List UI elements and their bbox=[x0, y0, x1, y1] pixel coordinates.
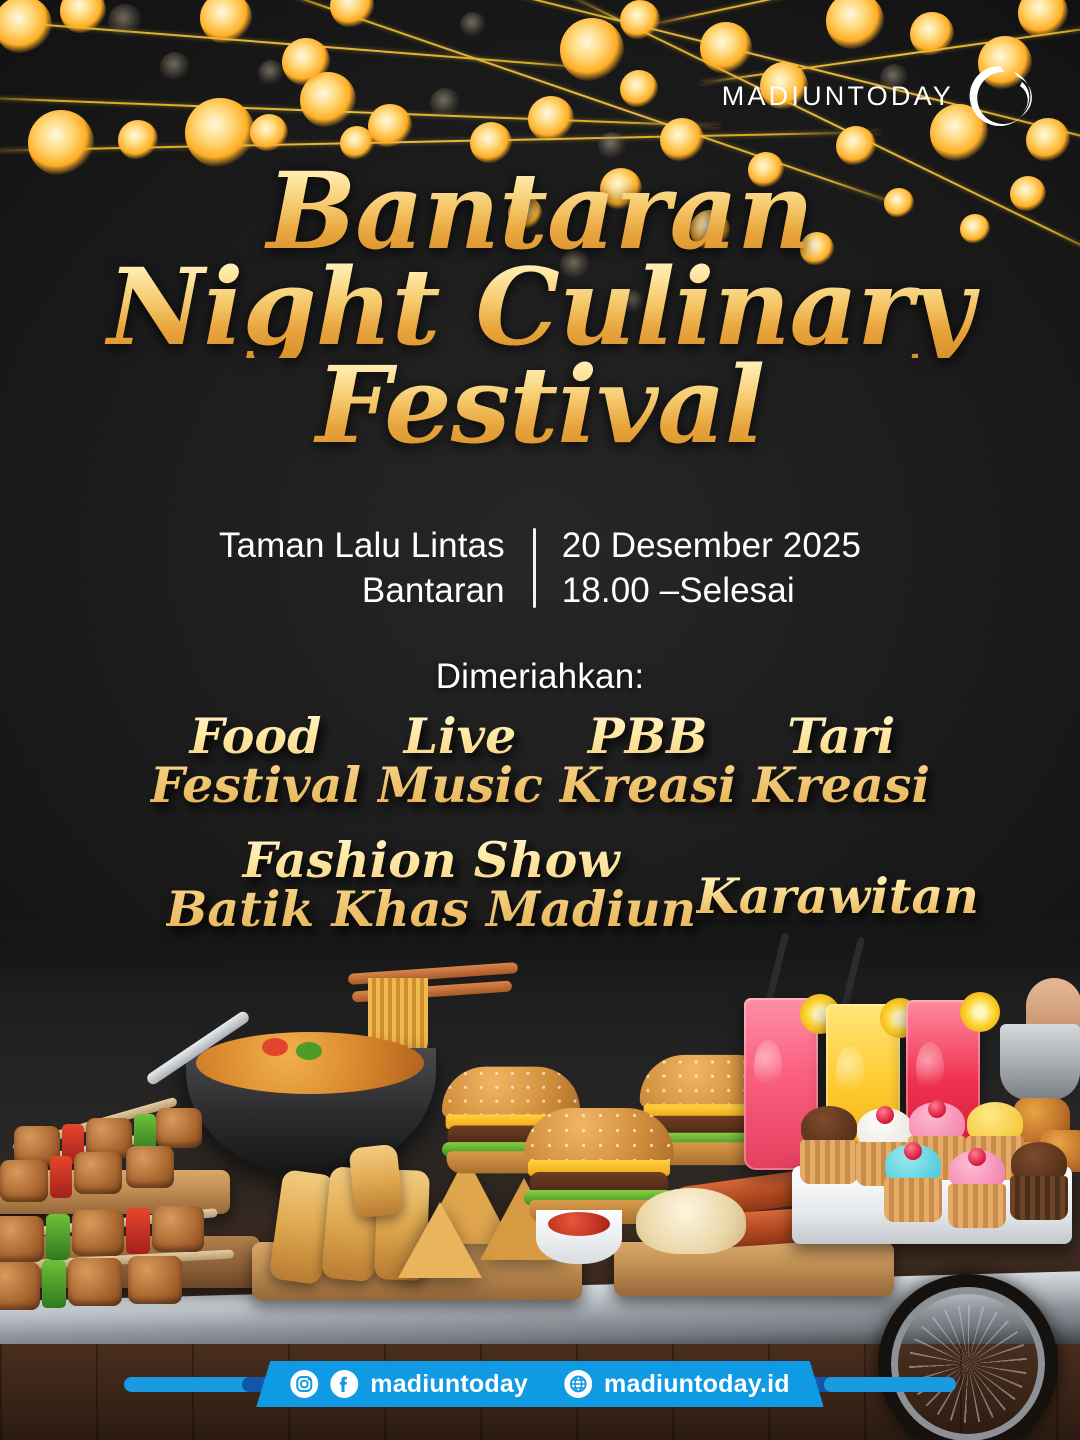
venue-line-1: Taman Lalu Lintas bbox=[219, 524, 505, 569]
lineup-item-line-2: Music bbox=[377, 761, 543, 810]
social-banner: madiuntoday madiuntoday.id bbox=[256, 1361, 823, 1407]
satay-pepper-green bbox=[46, 1214, 70, 1260]
instagram-icon[interactable] bbox=[290, 1370, 318, 1398]
satay-meat bbox=[72, 1210, 124, 1256]
lineup-row-secondary: Fashion Show Batik Khas Madiun Karawitan bbox=[120, 836, 960, 934]
satay-meat bbox=[68, 1258, 122, 1306]
cupcake bbox=[1006, 1142, 1072, 1220]
social-footer-bar: madiuntoday madiuntoday.id bbox=[0, 1361, 1080, 1407]
lemon-slice bbox=[960, 992, 1000, 1032]
facebook-icon[interactable] bbox=[330, 1370, 358, 1398]
lineup-item-line-1: Food bbox=[150, 712, 361, 761]
venue-block: Taman Lalu Lintas Bantaran bbox=[219, 524, 533, 614]
cupcake bbox=[944, 1150, 1010, 1228]
metal-pot bbox=[1000, 1024, 1080, 1100]
lineup-item-line-1: Karawitan bbox=[696, 872, 979, 921]
cupcake-liner bbox=[884, 1178, 942, 1222]
cupcake-liner bbox=[800, 1140, 858, 1184]
raspberry-topping bbox=[904, 1142, 922, 1160]
cupcake-liner bbox=[1010, 1176, 1068, 1220]
event-title: Bantaran Night Culinary Festival bbox=[0, 160, 1080, 455]
satay-meat bbox=[0, 1160, 48, 1202]
venue-line-2: Bantaran bbox=[219, 569, 505, 614]
brand-logo-text: MADIUNTODAY bbox=[722, 81, 954, 112]
footer-bar-left-bright bbox=[124, 1377, 256, 1392]
herb-garnish bbox=[296, 1042, 322, 1060]
cupcake-liner bbox=[948, 1184, 1006, 1228]
lineup-item-pbb-kreasi: PBB Kreasi bbox=[559, 712, 737, 810]
lineup-item-line-1: Live bbox=[377, 712, 543, 761]
cupcake bbox=[880, 1144, 946, 1222]
event-date: 20 Desember 2025 bbox=[562, 524, 861, 569]
satay-meat bbox=[74, 1152, 122, 1194]
social-banner-wrapper: madiuntoday madiuntoday.id bbox=[256, 1361, 823, 1407]
lineup-item-line-2: Kreasi bbox=[559, 761, 737, 810]
title-line-3: Festival bbox=[0, 354, 1080, 456]
social-handle[interactable]: madiuntoday bbox=[370, 1370, 528, 1399]
raspberry-topping bbox=[968, 1148, 986, 1166]
lineup-item-karawitan: Karawitan bbox=[696, 872, 979, 921]
lineup-label: Dimeriahkan: bbox=[0, 657, 1080, 697]
satay-pepper-red bbox=[50, 1156, 72, 1198]
satay-meat bbox=[126, 1146, 174, 1188]
bicycle-wheel bbox=[878, 1274, 1058, 1440]
lineup-item-line-1: Fashion Show bbox=[166, 836, 696, 885]
globe-icon[interactable] bbox=[564, 1370, 592, 1398]
lineup-item-tari-kreasi: Tari Kreasi bbox=[752, 712, 930, 810]
spring-roll bbox=[348, 1144, 403, 1219]
burger-bun-top bbox=[524, 1108, 674, 1164]
poster-canvas: MADIUNTODAY Bantaran Night Culinary Fest… bbox=[0, 0, 1080, 1440]
crescent-swoosh-icon bbox=[964, 60, 1036, 132]
tomato-garnish bbox=[262, 1038, 288, 1056]
satay-meat bbox=[0, 1216, 44, 1262]
satay-meat bbox=[152, 1206, 204, 1252]
satay-pepper-red bbox=[126, 1208, 150, 1254]
satay-meat bbox=[128, 1256, 182, 1304]
lineup-item-line-2: Batik Khas Madiun bbox=[166, 885, 696, 934]
raspberry-topping bbox=[876, 1106, 894, 1124]
brand-logo: MADIUNTODAY bbox=[722, 60, 1036, 132]
lineup-item-line-2: Festival bbox=[150, 761, 361, 810]
satay-pepper-green bbox=[42, 1260, 66, 1308]
lineup-item-line-1: Tari bbox=[752, 712, 930, 761]
lineup-item-line-2: Kreasi bbox=[752, 761, 930, 810]
satay-meat bbox=[156, 1108, 202, 1148]
ketchup bbox=[548, 1212, 610, 1236]
website-url[interactable]: madiuntoday.id bbox=[604, 1370, 790, 1399]
raspberry-topping bbox=[928, 1100, 946, 1118]
lineup-item-food-festival: Food Festival bbox=[150, 712, 361, 810]
lineup-row-primary: Food Festival Live Music PBB Kreasi Tari… bbox=[150, 712, 930, 810]
lineup-item-line-1: PBB bbox=[559, 712, 737, 761]
satay-meat bbox=[0, 1262, 40, 1310]
samosa bbox=[398, 1202, 482, 1278]
event-details: Taman Lalu Lintas Bantaran 20 Desember 2… bbox=[0, 524, 1080, 614]
coleslaw bbox=[636, 1188, 746, 1254]
event-time: 18.00 –Selesai bbox=[562, 569, 861, 614]
datetime-block: 20 Desember 2025 18.00 –Selesai bbox=[536, 524, 861, 614]
lineup-item-live-music: Live Music bbox=[377, 712, 543, 810]
footer-bar-right-bright bbox=[824, 1377, 956, 1392]
lineup-item-fashion-show: Fashion Show Batik Khas Madiun bbox=[166, 836, 696, 934]
